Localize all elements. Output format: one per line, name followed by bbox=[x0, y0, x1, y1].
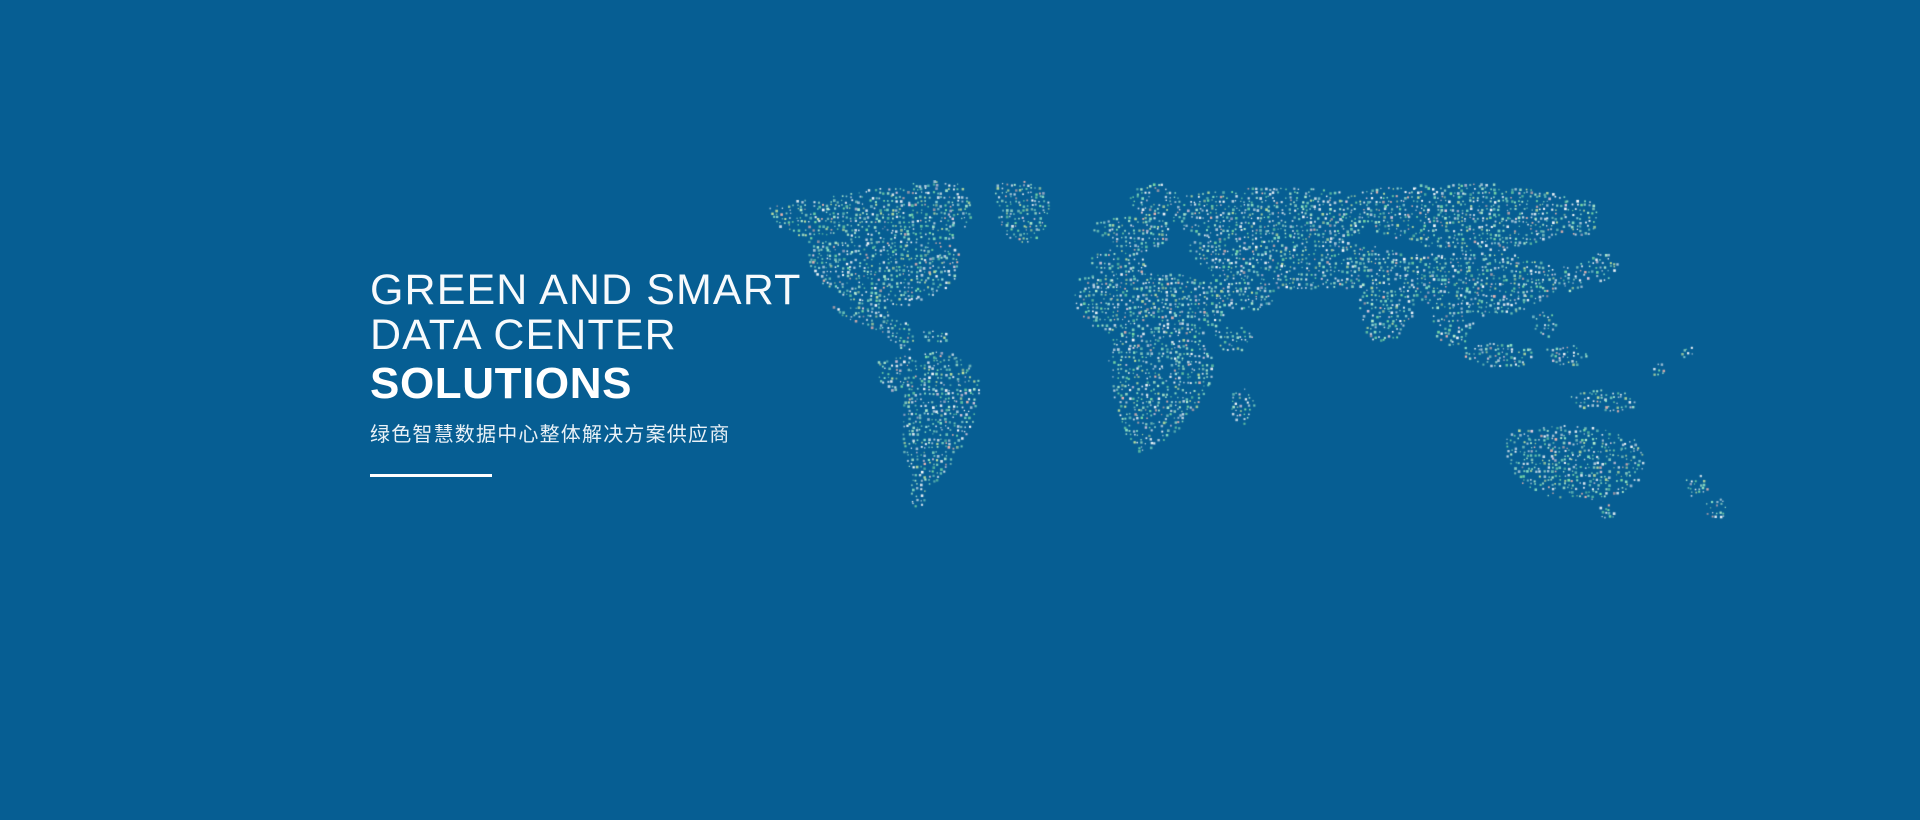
headline-line-3: SOLUTIONS bbox=[370, 358, 1010, 410]
headline-line-2: DATA CENTER bbox=[370, 313, 1010, 358]
headline-line-1: GREEN AND SMART bbox=[370, 268, 1010, 313]
hero-banner: GREEN AND SMART DATA CENTER SOLUTIONS 绿色… bbox=[0, 0, 1920, 820]
accent-divider bbox=[370, 474, 492, 477]
hero-subtitle: 绿色智慧数据中心整体解决方案供应商 bbox=[370, 422, 1010, 448]
hero-text-block: GREEN AND SMART DATA CENTER SOLUTIONS 绿色… bbox=[370, 268, 1010, 477]
